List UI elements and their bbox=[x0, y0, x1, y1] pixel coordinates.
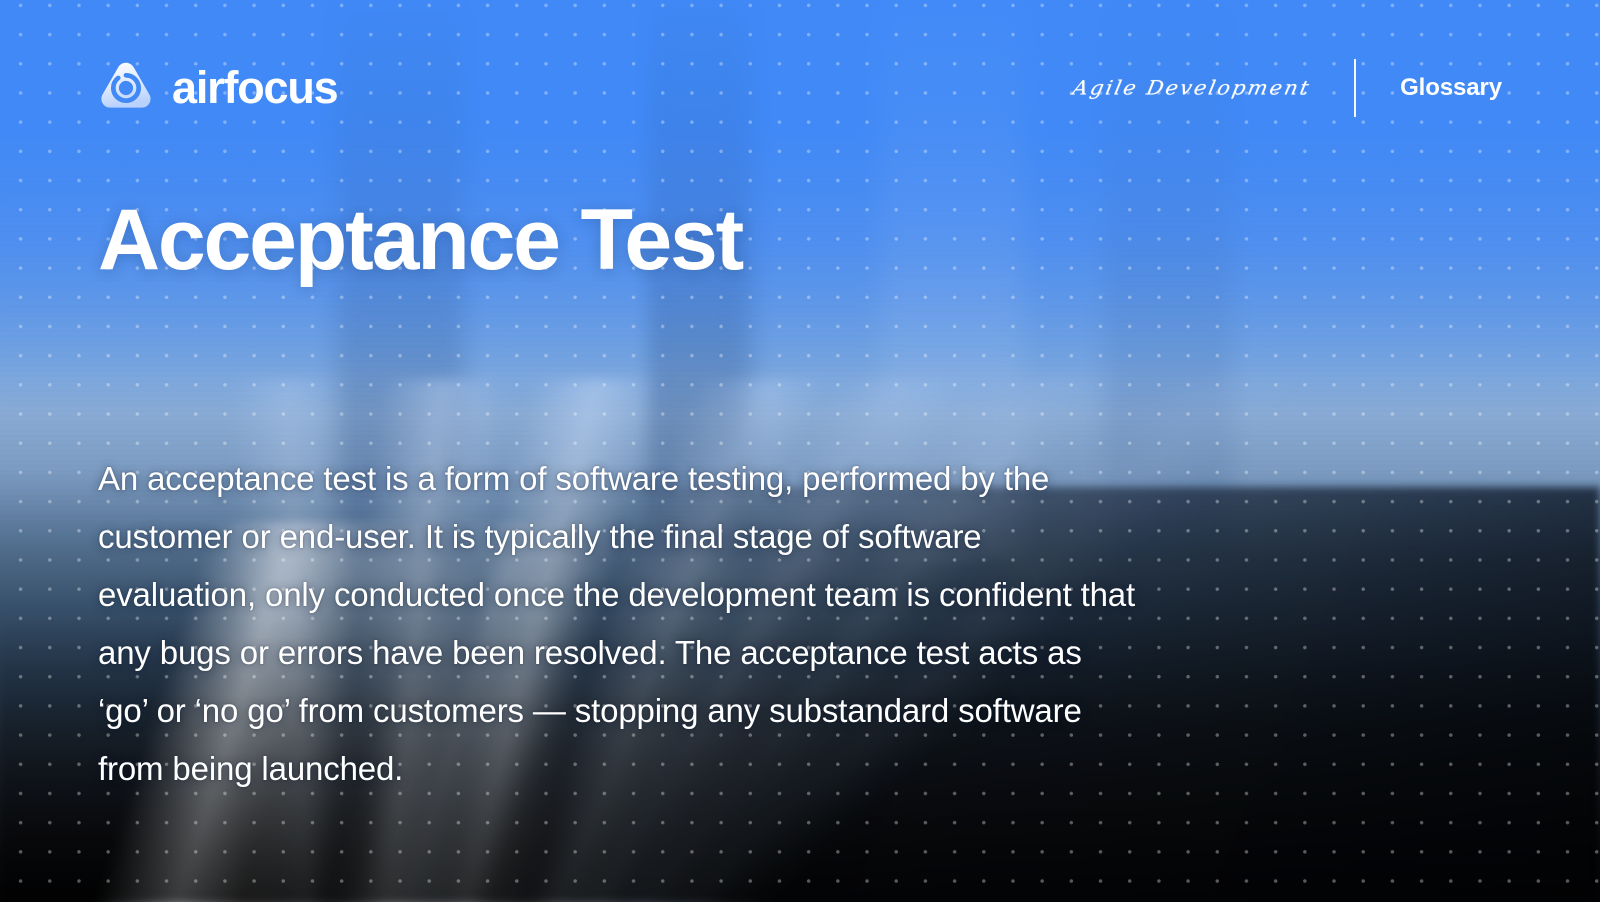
airfocus-logo-icon bbox=[98, 60, 154, 116]
nav-section-label[interactable]: Glossary bbox=[1356, 74, 1502, 102]
header-nav: Agile Development Glossary bbox=[1073, 59, 1502, 117]
nav-divider bbox=[1354, 59, 1356, 117]
brand-name: airfocus bbox=[172, 65, 337, 110]
definition-paragraph: An acceptance test is a form of software… bbox=[98, 450, 1138, 798]
site-header: airfocus Agile Development Glossary bbox=[0, 0, 1600, 175]
nav-category-label[interactable]: Agile Development bbox=[1070, 76, 1356, 99]
page-title: Acceptance Test bbox=[98, 196, 742, 285]
glossary-hero-card: airfocus Agile Development Glossary Acce… bbox=[0, 0, 1600, 902]
brand-logo-link[interactable]: airfocus bbox=[98, 60, 337, 116]
